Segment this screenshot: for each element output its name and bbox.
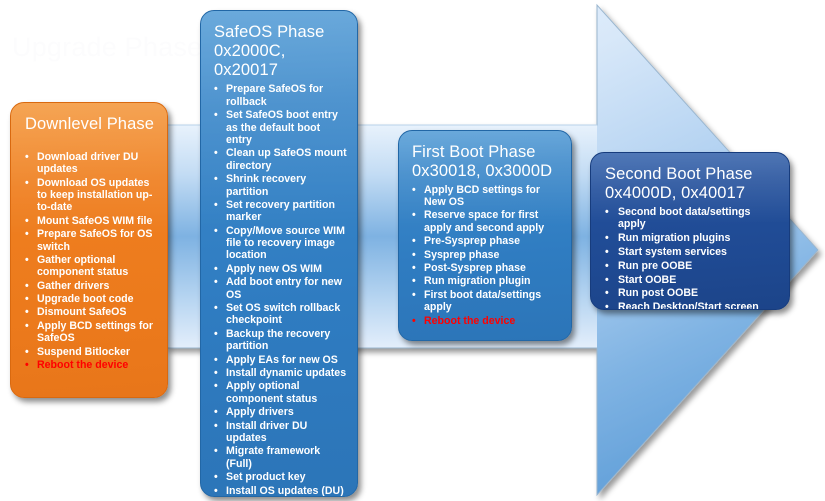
task-item-label: Set OS switch rollback checkpoint <box>226 302 349 327</box>
bullet-icon: • <box>214 225 218 237</box>
task-item: •Pre-Sysprep phase <box>412 235 563 247</box>
task-item: •Set SafeOS boot entry as the default bo… <box>214 109 349 146</box>
bullet-icon: • <box>214 147 218 159</box>
bullet-icon: • <box>25 359 29 371</box>
bullet-icon: • <box>605 260 609 272</box>
task-item: •Sysprep phase <box>412 249 563 261</box>
bullet-icon: • <box>214 471 218 483</box>
bullet-icon: • <box>605 301 609 310</box>
task-item: •Copy/Move source WIM file to recovery i… <box>214 225 349 262</box>
task-item-label: First boot data/settings apply <box>424 289 563 314</box>
task-item-label: Run migration plugins <box>618 232 781 244</box>
task-item-label: Migrate framework (Full) <box>226 445 349 470</box>
task-item-label: Pre-Sysprep phase <box>424 235 563 247</box>
task-item-label: Backup the recovery partition <box>226 328 349 353</box>
phase-codes-text: 0x2000C, 0x20017 <box>214 42 285 79</box>
bullet-icon: • <box>214 406 218 418</box>
bullet-icon: • <box>25 177 29 189</box>
bullet-icon: • <box>412 209 416 221</box>
bullet-icon: • <box>25 346 29 358</box>
task-item-label: Start system services <box>618 246 781 258</box>
phase-card-downlevel[interactable]: Downlevel Phase •Download driver DU upda… <box>10 102 168 398</box>
task-item-label: Apply new OS WIM <box>226 263 349 275</box>
task-item: •Reboot the device <box>412 315 563 327</box>
task-item: •Reboot the device <box>25 359 157 371</box>
task-item-label: Apply drivers <box>226 406 349 418</box>
bullet-icon: • <box>25 280 29 292</box>
task-item: •Start OOBE <box>605 274 781 286</box>
phase-title-firstboot: First Boot Phase 0x30018, 0x3000D <box>412 143 563 181</box>
bullet-icon: • <box>25 228 29 240</box>
task-item-label: Run post OOBE <box>618 287 781 299</box>
task-item-label: Second boot data/settings apply <box>618 206 781 231</box>
task-item: •Post-Sysprep phase <box>412 262 563 274</box>
task-item-label: Reach Desktop/Start screen <box>618 301 781 310</box>
task-item: •Install OS updates (DU) <box>214 485 349 497</box>
task-item: •Shrink recovery partition <box>214 173 349 198</box>
bullet-icon: • <box>412 249 416 261</box>
phase-card-firstboot[interactable]: First Boot Phase 0x30018, 0x3000D •Apply… <box>398 130 572 341</box>
task-item-label: Suspend Bitlocker <box>37 346 157 358</box>
bullet-icon: • <box>412 275 416 287</box>
bullet-icon: • <box>25 320 29 332</box>
task-item-label: Set recovery partition marker <box>226 199 349 224</box>
task-item: •Prepare SafeOS for OS switch <box>25 228 157 253</box>
phase-title-text: SafeOS Phase <box>214 23 324 41</box>
bullet-icon: • <box>214 199 218 211</box>
bullet-icon: • <box>25 151 29 163</box>
task-item: •Install dynamic updates <box>214 367 349 379</box>
task-item: •Gather drivers <box>25 280 157 292</box>
bullet-icon: • <box>25 306 29 318</box>
phase-title-safeos: SafeOS Phase 0x2000C, 0x20017 <box>214 23 349 79</box>
phase-codes-text: 0x4000D, 0x40017 <box>605 184 745 202</box>
task-item-label: Prepare SafeOS for rollback <box>226 83 349 108</box>
bullet-icon: • <box>214 302 218 314</box>
bullet-icon: • <box>412 184 416 196</box>
bullet-icon: • <box>214 485 218 497</box>
bullet-icon: • <box>214 354 218 366</box>
task-item: •Set product key <box>214 471 349 483</box>
bullet-icon: • <box>214 380 218 392</box>
phase-task-list-firstboot: •Apply BCD settings for New OS•Reserve s… <box>412 184 563 327</box>
task-item-label: Run migration plugin <box>424 275 563 287</box>
task-item: •Prepare SafeOS for rollback <box>214 83 349 108</box>
phase-title-text: Second Boot Phase <box>605 165 753 183</box>
task-item-label: Download OS updates to keep installation… <box>37 177 157 214</box>
task-item-label: Gather optional component status <box>37 254 157 279</box>
phase-title-downlevel: Downlevel Phase <box>25 115 157 134</box>
task-item-label: Run pre OOBE <box>618 260 781 272</box>
task-item-label: Clean up SafeOS mount directory <box>226 147 349 172</box>
task-item: •Run pre OOBE <box>605 260 781 272</box>
task-item-label: Set SafeOS boot entry as the default boo… <box>226 109 349 146</box>
bullet-icon: • <box>214 367 218 379</box>
task-item-label: Install driver DU updates <box>226 420 349 445</box>
task-item-label: Apply EAs for new OS <box>226 354 349 366</box>
task-item: •Second boot data/settings apply <box>605 206 781 231</box>
task-item: •Mount SafeOS WIM file <box>25 215 157 227</box>
task-item: •Apply new OS WIM <box>214 263 349 275</box>
task-item-label: Shrink recovery partition <box>226 173 349 198</box>
task-item-label: Gather drivers <box>37 280 157 292</box>
task-item-label: Copy/Move source WIM file to recovery im… <box>226 225 349 262</box>
task-item-label: Download driver DU updates <box>37 151 157 176</box>
bullet-icon: • <box>214 420 218 432</box>
task-item-label: Mount SafeOS WIM file <box>37 215 157 227</box>
task-item: •Apply EAs for new OS <box>214 354 349 366</box>
task-item: •Set recovery partition marker <box>214 199 349 224</box>
bullet-icon: • <box>25 254 29 266</box>
bullet-icon: • <box>605 206 609 218</box>
phase-card-safeos[interactable]: SafeOS Phase 0x2000C, 0x20017 •Prepare S… <box>200 10 358 497</box>
task-item-label: Reboot the device <box>424 315 563 327</box>
task-item: •Add boot entry for new OS <box>214 276 349 301</box>
task-item: •Start system services <box>605 246 781 258</box>
task-item: •Clean up SafeOS mount directory <box>214 147 349 172</box>
task-item: •Reach Desktop/Start screen <box>605 301 781 310</box>
task-item: •Reserve space for first apply and secon… <box>412 209 563 234</box>
phase-codes-text: 0x30018, 0x3000D <box>412 162 552 180</box>
phase-task-list-secondboot: •Second boot data/settings apply•Run mig… <box>605 206 781 310</box>
task-item: •Migrate framework (Full) <box>214 445 349 470</box>
task-item-label: Install dynamic updates <box>226 367 349 379</box>
bullet-icon: • <box>605 287 609 299</box>
bullet-icon: • <box>605 232 609 244</box>
task-item-label: Install OS updates (DU) <box>226 485 349 497</box>
bullet-icon: • <box>605 274 609 286</box>
task-item-label: Reserve space for first apply and second… <box>424 209 563 234</box>
task-item-label: Add boot entry for new OS <box>226 276 349 301</box>
task-item-label: Reboot the device <box>37 359 157 371</box>
task-item-label: Post-Sysprep phase <box>424 262 563 274</box>
bullet-icon: • <box>412 262 416 274</box>
bullet-icon: • <box>214 263 218 275</box>
task-item-label: Dismount SafeOS <box>37 306 157 318</box>
task-item: •Upgrade boot code <box>25 293 157 305</box>
bullet-icon: • <box>214 276 218 288</box>
phase-task-list-downlevel: •Download driver DU updates•Download OS … <box>25 151 157 372</box>
task-item-label: Upgrade boot code <box>37 293 157 305</box>
task-item: •Download driver DU updates <box>25 151 157 176</box>
task-item: •Run migration plugin <box>412 275 563 287</box>
task-item: •Install driver DU updates <box>214 420 349 445</box>
bullet-icon: • <box>214 328 218 340</box>
bullet-icon: • <box>214 109 218 121</box>
diagram-canvas: Upgrade Phases <box>0 0 825 501</box>
phase-task-list-safeos: •Prepare SafeOS for rollback•Set SafeOS … <box>214 83 349 497</box>
task-item-label: Sysprep phase <box>424 249 563 261</box>
task-item-label: Apply BCD settings for SafeOS <box>37 320 157 345</box>
task-item: •First boot data/settings apply <box>412 289 563 314</box>
task-item: •Apply optional component status <box>214 380 349 405</box>
bullet-icon: • <box>605 246 609 258</box>
bullet-icon: • <box>412 235 416 247</box>
task-item-label: Start OOBE <box>618 274 781 286</box>
bullet-icon: • <box>25 293 29 305</box>
task-item: •Gather optional component status <box>25 254 157 279</box>
phase-card-secondboot[interactable]: Second Boot Phase 0x4000D, 0x40017 •Seco… <box>590 152 790 310</box>
bullet-icon: • <box>214 83 218 95</box>
bullet-icon: • <box>412 315 416 327</box>
bullet-icon: • <box>25 215 29 227</box>
task-item-label: Prepare SafeOS for OS switch <box>37 228 157 253</box>
bullet-icon: • <box>412 289 416 301</box>
task-item: •Apply drivers <box>214 406 349 418</box>
task-item: •Download OS updates to keep installatio… <box>25 177 157 214</box>
task-item: •Backup the recovery partition <box>214 328 349 353</box>
task-item: •Run post OOBE <box>605 287 781 299</box>
task-item: •Dismount SafeOS <box>25 306 157 318</box>
phase-title-text: First Boot Phase <box>412 143 536 161</box>
task-item: •Suspend Bitlocker <box>25 346 157 358</box>
bullet-icon: • <box>214 445 218 457</box>
task-item-label: Set product key <box>226 471 349 483</box>
bullet-icon: • <box>214 173 218 185</box>
task-item-label: Apply BCD settings for New OS <box>424 184 563 209</box>
task-item-label: Apply optional component status <box>226 380 349 405</box>
phase-title-text: Downlevel Phase <box>25 115 154 133</box>
task-item: •Set OS switch rollback checkpoint <box>214 302 349 327</box>
task-item: •Apply BCD settings for SafeOS <box>25 320 157 345</box>
task-item: •Run migration plugins <box>605 232 781 244</box>
task-item: •Apply BCD settings for New OS <box>412 184 563 209</box>
phase-title-secondboot: Second Boot Phase 0x4000D, 0x40017 <box>605 165 781 203</box>
